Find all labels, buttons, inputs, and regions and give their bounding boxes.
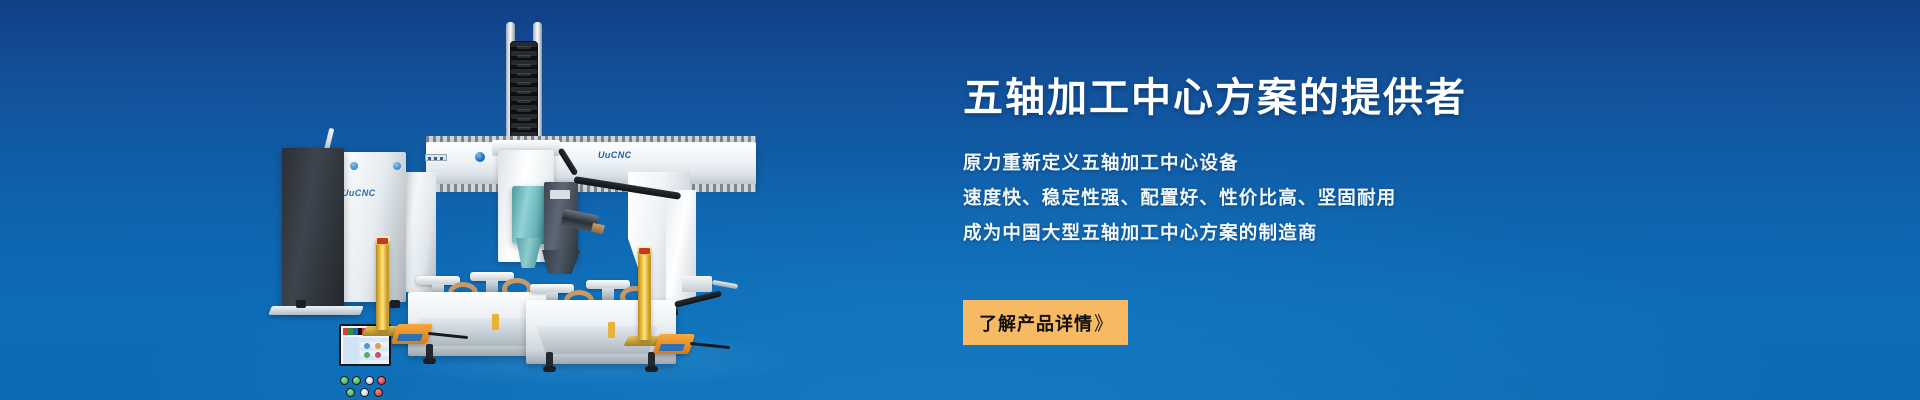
spindle-tool-tip [591,223,605,234]
learn-more-button[interactable]: 了解产品详情》 [963,300,1128,345]
panel-button-red-2 [374,388,383,397]
spindle-head-teal-nose [516,238,542,268]
beam-brand-logo: UuCNC [598,150,632,160]
spindle-head-dark-nose [542,250,580,274]
foot-pedal [391,324,433,344]
end-control-box [682,276,712,292]
panel-button-green [340,376,349,385]
beam-indicator-strip [425,154,447,161]
safety-bollard [376,240,389,330]
subtitle-line-3: 成为中国大型五轴加工中心方案的制造商 [963,215,1683,250]
work-bed-marker [492,314,499,330]
safety-bollard-light-icon [639,248,650,254]
operator-panel [282,148,344,310]
chevron-right-icon: 》 [1094,309,1112,336]
end-rod [712,280,738,289]
work-bed-leg [546,352,553,370]
safety-bollard [638,250,651,340]
hero-banner: UuCNC UuCNC [0,0,1920,400]
safety-bollard-light-icon [377,238,388,244]
spindle-head-badge [550,190,570,199]
page-title: 五轴加工中心方案的提供者 [963,76,1683,121]
cabinet-foot-right [390,300,400,308]
panel-button-green-3 [346,388,355,397]
spindle-head-teal-body [512,186,546,244]
cabinet-brand-logo: UuCNC [342,188,376,198]
subtitle-line-2: 速度快、稳定性强、配置好、性价比高、坚固耐用 [963,180,1683,215]
work-bed-leg [426,344,433,362]
cnc-machine-illustration: UuCNC UuCNC [230,0,790,400]
cabinet-foot-left [296,300,306,308]
cabinet-led-icon [350,162,358,170]
banner-copy: 五轴加工中心方案的提供者 原力重新定义五轴加工中心设备 速度快、稳定性强、配置好… [963,76,1683,250]
panel-button-red [377,376,386,385]
cabinet-led-icon-secondary [393,162,401,170]
panel-button-green-2 [352,376,361,385]
work-bed-marker [608,322,615,338]
learn-more-button-label: 了解产品详情 [979,310,1093,336]
foot-pedal [653,334,695,354]
hmi-screen-content [343,337,391,365]
panel-button-row [340,376,388,398]
panel-button-white [365,376,374,385]
keyboard-tray [268,306,364,315]
subtitle-line-1: 原力重新定义五轴加工中心设备 [963,145,1683,180]
work-bed-leg [648,352,655,370]
beam-status-led-icon [475,152,485,162]
panel-button-white-2 [360,388,369,397]
